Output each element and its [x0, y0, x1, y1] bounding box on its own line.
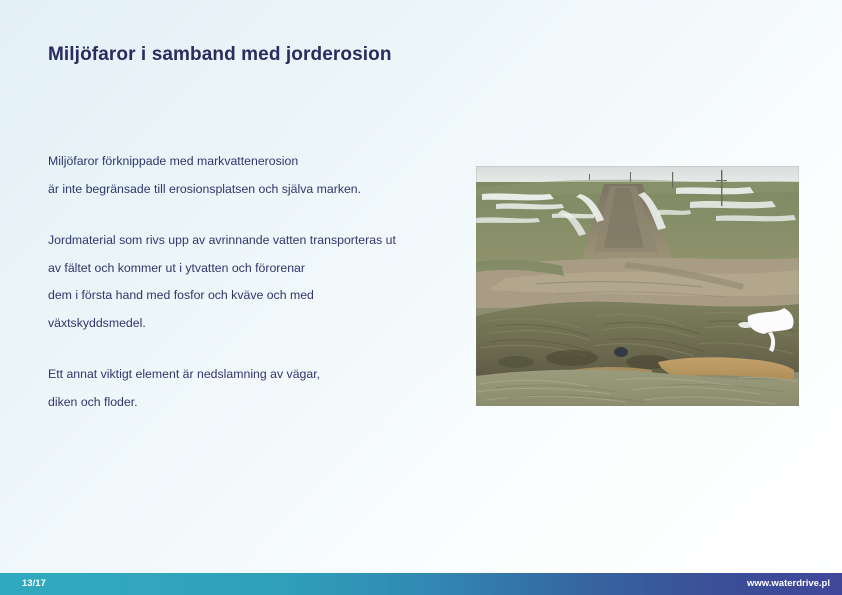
- paragraph-line: växtskyddsmedel.: [48, 310, 458, 338]
- paragraph-line: Ett annat viktigt element är nedslamning…: [48, 361, 458, 389]
- paragraph-line: av fältet och kommer ut i ytvatten och f…: [48, 255, 458, 283]
- paragraph: Ett annat viktigt element är nedslamning…: [48, 361, 458, 416]
- body-text: Miljöfaror förknippade med markvattenero…: [48, 148, 458, 416]
- erosion-photo-graphic: [476, 166, 799, 406]
- erosion-photo: [476, 166, 799, 406]
- page-number: 13/17: [22, 573, 46, 595]
- paragraph-line: diken och floder.: [48, 389, 458, 417]
- footer-url[interactable]: www.waterdrive.pl: [747, 573, 830, 595]
- paragraph-line: är inte begränsade till erosionsplatsen …: [48, 176, 458, 204]
- slide: Miljöfaror i samband med jorderosion Mil…: [0, 0, 842, 595]
- paragraph: Jordmaterial som rivs upp av avrinnande …: [48, 227, 458, 337]
- paragraph-line: Miljöfaror förknippade med markvattenero…: [48, 148, 458, 176]
- paragraph-line: Jordmaterial som rivs upp av avrinnande …: [48, 227, 458, 255]
- page-title: Miljöfaror i samband med jorderosion: [48, 44, 392, 66]
- footer-bar: 13/17 www.waterdrive.pl: [0, 573, 842, 595]
- paragraph-line: dem i första hand med fosfor och kväve o…: [48, 282, 458, 310]
- paragraph: Miljöfaror förknippade med markvattenero…: [48, 148, 458, 203]
